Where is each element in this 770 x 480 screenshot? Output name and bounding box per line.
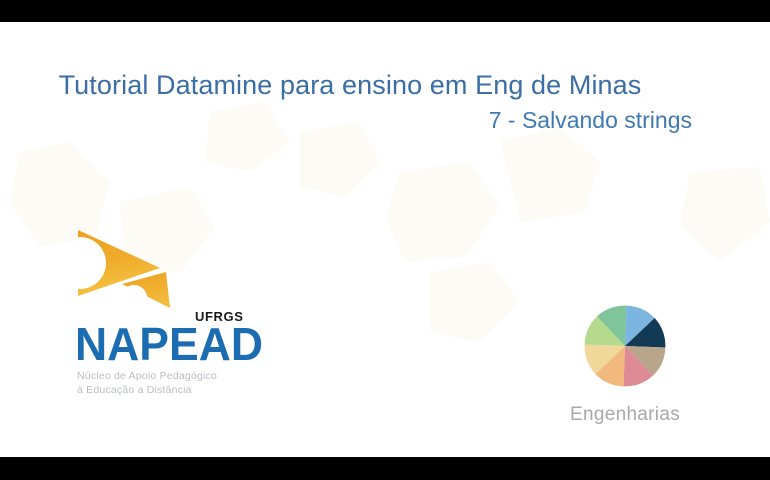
svg-text:NAPEAD: NAPEAD	[75, 322, 263, 368]
page-title: Tutorial Datamine para ensino em Eng de …	[0, 70, 700, 101]
title-block: Tutorial Datamine para ensino em Eng de …	[0, 70, 700, 134]
slide-content-area: Tutorial Datamine para ensino em Eng de …	[0, 22, 770, 457]
subtitle-row: 7 - Salvando strings	[0, 107, 700, 134]
engenharias-logo: Engenharias	[545, 304, 705, 434]
color-wheel-icon	[583, 304, 667, 388]
napead-wordmark: NAPEAD	[75, 322, 265, 368]
letterbox-bar-top	[0, 0, 770, 22]
video-title-slide: Tutorial Datamine para ensino em Eng de …	[0, 0, 770, 480]
napead-tagline: Núcleo de Apoio Pedagógico à Educação a …	[77, 370, 272, 397]
napead-arrow-icon	[74, 226, 174, 312]
napead-tagline-line1: Núcleo de Apoio Pedagógico	[77, 370, 272, 384]
letterbox-bar-bottom	[0, 457, 770, 480]
napead-tagline-line2: à Educação a Distância	[77, 384, 272, 398]
napead-logo: UFRGS NAPEAD Núcleo de Apoio Pedagógico …	[72, 226, 272, 406]
page-subtitle: 7 - Salvando strings	[489, 107, 692, 133]
engenharias-label: Engenharias	[545, 404, 705, 426]
